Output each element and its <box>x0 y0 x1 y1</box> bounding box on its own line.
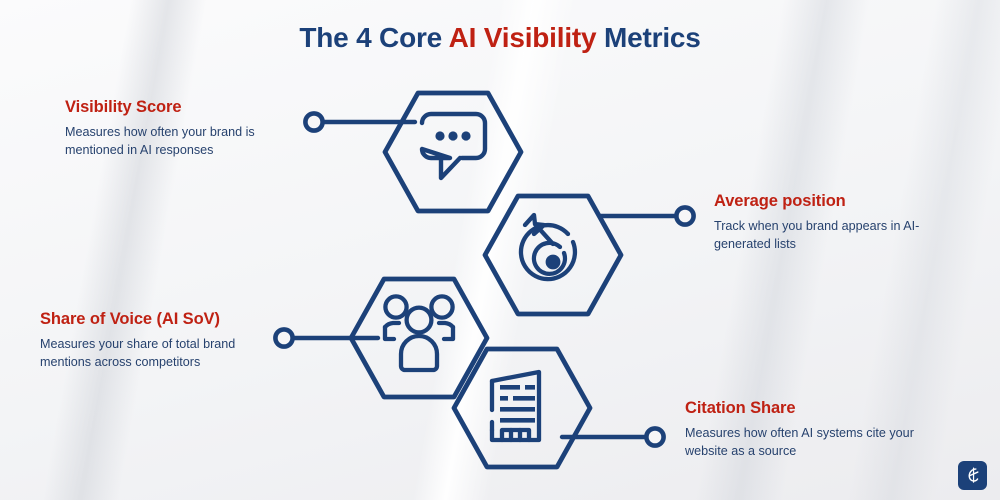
metric-heading: Share of Voice (AI SoV) <box>40 310 262 329</box>
metric-average-position: Average position Track when you brand ap… <box>714 192 962 254</box>
metric-visibility-score: Visibility Score Measures how often your… <box>65 98 305 160</box>
metric-share-of-voice: Share of Voice (AI SoV) Measures your sh… <box>40 310 262 372</box>
metric-heading: Citation Share <box>685 399 947 418</box>
metric-description: Measures how often AI systems cite your … <box>685 425 947 461</box>
metric-citation-share: Citation Share Measures how often AI sys… <box>685 399 947 461</box>
chat-bubble-icon <box>422 114 485 178</box>
brand-logo-glyph <box>963 466 982 485</box>
chat-bubble-dots <box>435 131 470 140</box>
infographic-canvas: The 4 Core AI Visibility Metrics <box>0 0 1000 500</box>
document-text-lines <box>500 385 535 423</box>
target-center-dot <box>546 255 561 270</box>
hexagon-visibility-score[interactable] <box>385 93 521 211</box>
connector-share-of-voice <box>275 329 378 346</box>
brand-logo[interactable] <box>958 461 987 490</box>
metric-description: Track when you brand appears in AI-gener… <box>714 218 962 254</box>
metric-description: Measures your share of total brand menti… <box>40 336 262 372</box>
people-group-icon <box>385 296 453 370</box>
connector-average-position <box>600 207 694 224</box>
target-arrow-icon <box>521 215 575 279</box>
document-certificate-icon <box>492 372 539 440</box>
metric-description: Measures how often your brand is mention… <box>65 124 305 160</box>
metric-heading: Visibility Score <box>65 98 305 117</box>
metric-heading: Average position <box>714 192 962 211</box>
